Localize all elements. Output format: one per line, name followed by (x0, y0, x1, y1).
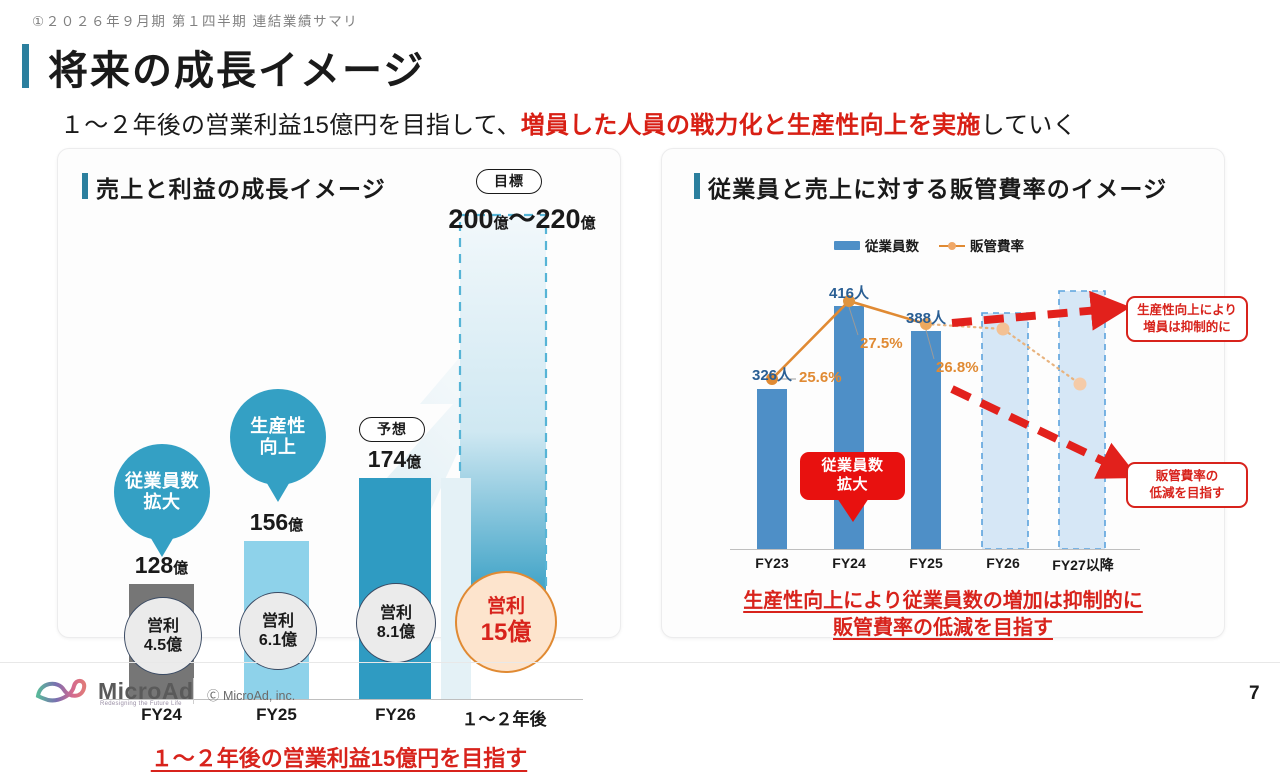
xlabel-future: １～２年後 (446, 705, 562, 730)
microad-logo-icon (34, 676, 92, 706)
bubble-productivity-line1: 生産性 (250, 416, 306, 437)
value-label-fy26: 174億 (347, 446, 442, 473)
right-chart-baseline (730, 549, 1140, 550)
subtitle-post: していく (981, 112, 1077, 139)
bubble-productivity-improvement: 生産性 向上 (230, 389, 326, 485)
callout-productivity: 生産性向上により 増員は抑制的に (1126, 296, 1248, 342)
subtitle-highlight: 増員した人員の戦力化と生産性向上を実施 (521, 112, 981, 139)
legend-line-marker-icon (939, 241, 965, 250)
callout-1-line1: 生産性向上により (1137, 302, 1237, 319)
value-label-fy24-ratio: 27.5% (860, 335, 903, 352)
value-label-future: 200億～220億 (432, 197, 612, 236)
value-label-fy23-headcount: 326人 (740, 364, 804, 385)
right-chart-card: 従業員と売上に対する販管費率のイメージ 従業員数 販管費率 (661, 148, 1225, 638)
legend-bar-swatch-icon (834, 241, 860, 250)
legend-item-headcount: 従業員数 (834, 235, 919, 255)
subtitle-pre: １～２年後の営業利益15億円を目指して、 (60, 112, 521, 139)
bubble-workforce-line1: 従業員数 (125, 471, 199, 492)
profit-circle-fy25: 営利6.1億 (239, 592, 317, 670)
xlabel-fy24-right: FY24 (817, 555, 881, 571)
left-card-title: 売上と利益の成長イメージ (96, 170, 386, 204)
right-card-caption-line2: 販管費率の低減を目指す (662, 611, 1224, 640)
badge-line1: 従業員数 (821, 457, 883, 476)
xlabel-fy25-right: FY25 (894, 555, 958, 571)
xlabel-fy26-right: FY26 (971, 555, 1035, 571)
legend-item-sga-ratio: 販管費率 (939, 235, 1024, 255)
page-subtitle: １～２年後の営業利益15億円を目指して、増員した人員の戦力化と生産性向上を実施し… (60, 105, 1077, 140)
profit-circle-fy24: 営利4.5億 (124, 597, 202, 675)
copyright-text: Ⓒ MicroAd, inc. (207, 685, 295, 704)
callout-1-line2: 増員は抑制的に (1137, 319, 1237, 336)
right-card-caption-line1: 生産性向上により従業員数の増加は抑制的に (662, 584, 1224, 613)
callout-2-line1: 販管費率の (1149, 468, 1224, 485)
page-number: 7 (1249, 683, 1260, 705)
xlabel-fy27-onward: FY27以降 (1042, 555, 1124, 575)
profit-circle-future: 営利15億 (455, 571, 557, 673)
left-card-accent-rule (82, 173, 88, 199)
badge-forecast: 予想 (359, 417, 425, 442)
target-bar-future (452, 209, 582, 619)
xlabel-fy26: FY26 (348, 705, 443, 725)
badge-workforce-expansion: 従業員数 拡大 (800, 452, 905, 500)
profit-circle-fy26: 営利8.1億 (356, 583, 436, 663)
badge-tail (837, 498, 869, 522)
right-card-accent-rule (694, 173, 700, 199)
bubble-productivity-line2: 向上 (250, 437, 306, 458)
title-accent-rule (22, 44, 29, 88)
value-label-fy24-headcount: 416人 (817, 282, 881, 303)
left-card-caption: １～２年後の営業利益15億円を目指す (58, 741, 620, 773)
bubble-workforce-line2: 拡大 (125, 492, 199, 513)
xlabel-fy23: FY23 (740, 555, 804, 571)
left-chart-card: 売上と利益の成長イメージ (57, 148, 621, 638)
bubble-tail (149, 535, 175, 557)
xlabel-fy24: FY24 (114, 705, 209, 725)
bubble-workforce-expansion: 従業員数 拡大 (114, 444, 210, 540)
right-chart-legend: 従業員数 販管費率 (834, 235, 1024, 255)
legend-label-sga-ratio: 販管費率 (970, 235, 1024, 255)
microad-logo-tagline: Redesigning the Future Life (100, 701, 182, 707)
legend-label-headcount: 従業員数 (865, 235, 919, 255)
badge-target: 目標 (476, 169, 542, 194)
value-label-fy23-ratio: 25.6% (799, 369, 842, 386)
value-label-fy25: 156億 (229, 509, 324, 536)
footer-divider (0, 662, 1280, 663)
callout-sga-reduction: 販管費率の 低減を目指す (1126, 462, 1248, 508)
bubble-tail (265, 480, 291, 502)
callout-2-line2: 低減を目指す (1149, 485, 1224, 502)
slide-eyebrow: ①２０２６年９月期 第１四半期 連結業績サマリ (32, 10, 358, 30)
badge-line2: 拡大 (821, 476, 883, 495)
page-title: 将来の成長イメージ (48, 38, 425, 96)
xlabel-fy25: FY25 (229, 705, 324, 725)
slide: ①２０２６年９月期 第１四半期 連結業績サマリ 将来の成長イメージ １～２年後の… (0, 0, 1280, 720)
footer-logo-divider (193, 678, 194, 704)
right-card-title: 従業員と売上に対する販管費率のイメージ (708, 170, 1167, 204)
